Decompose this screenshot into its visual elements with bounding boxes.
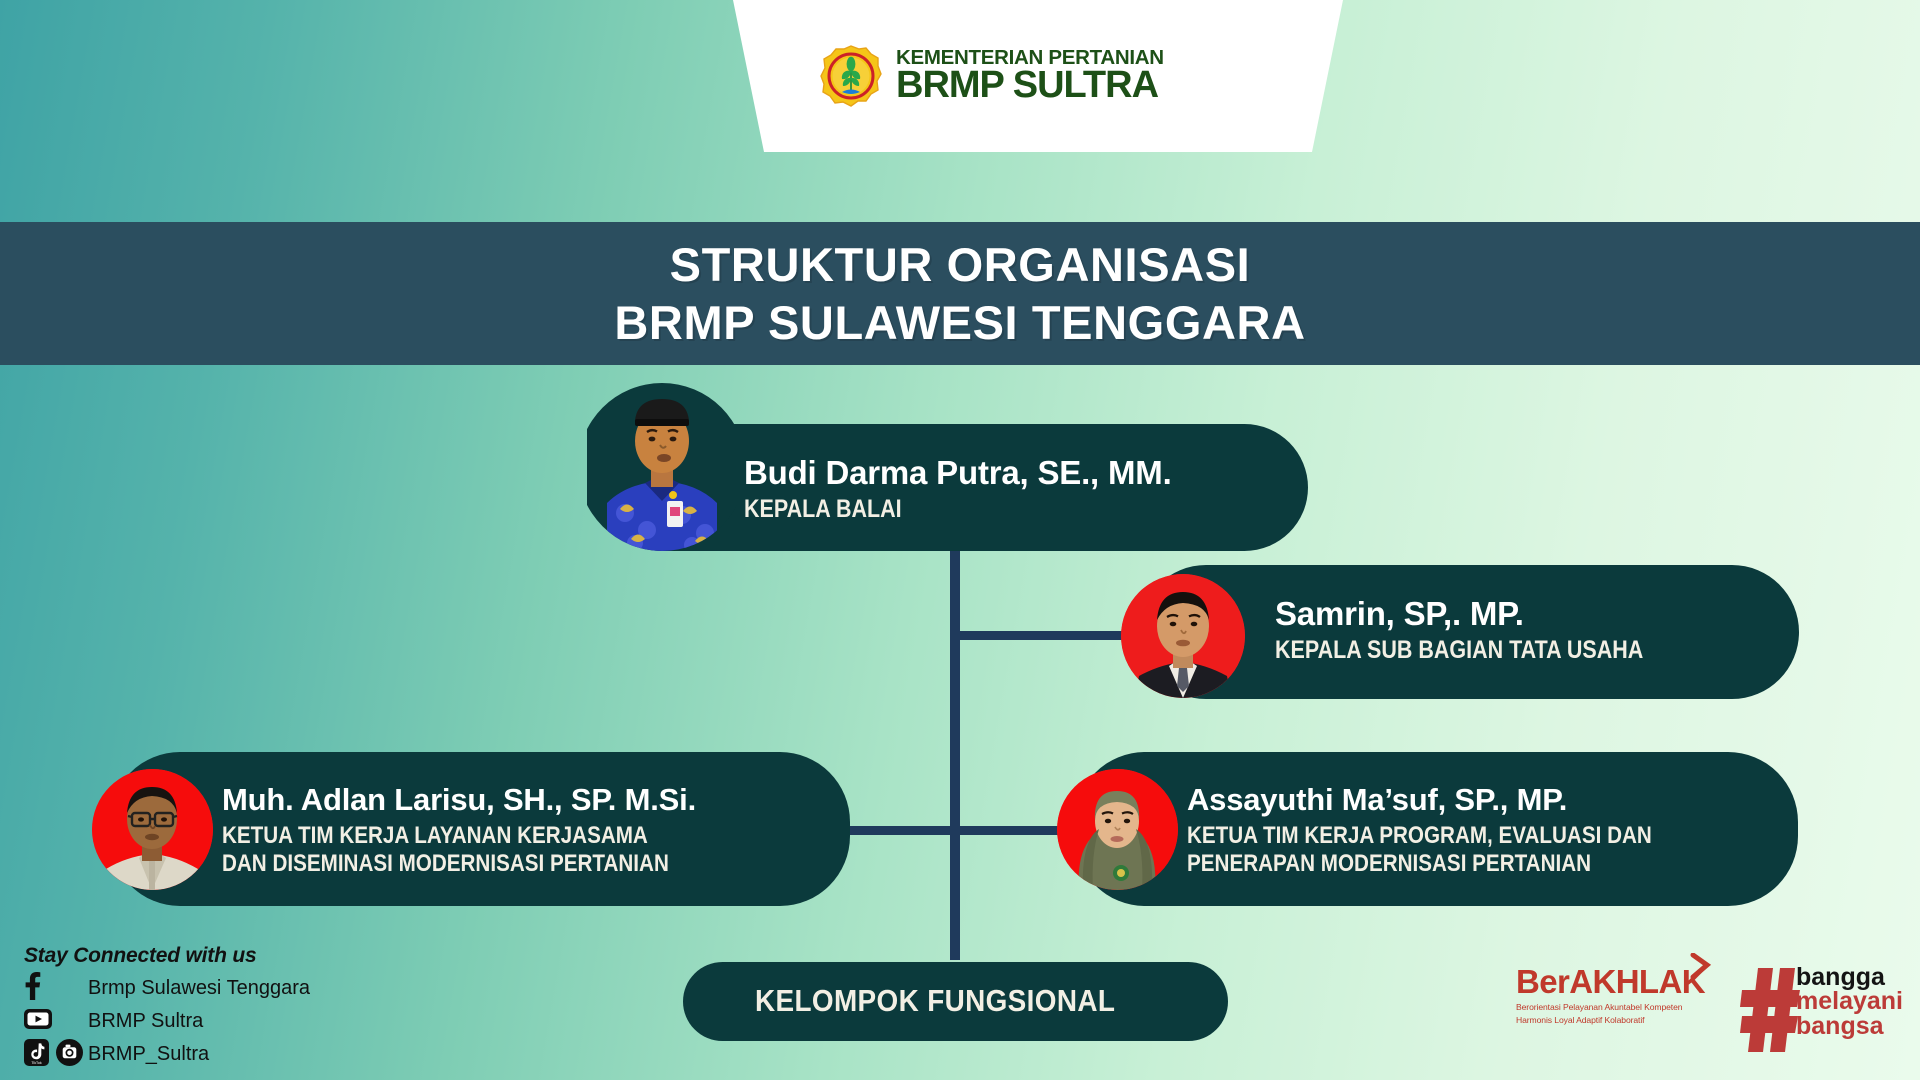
avatar-assayuthi-masuf (1057, 769, 1178, 890)
org-card-ketua-tim-program[interactable]: Assayuthi Ma’suf, SP., MP. KETUA TIM KER… (1075, 752, 1798, 906)
facebook-icon[interactable] (24, 972, 41, 1005)
bangga-line-2: melayani (1796, 989, 1903, 1013)
role-assayuthi-masuf-line-2: PENERAPAN MODERNISASI PERTANIAN (1187, 850, 1652, 878)
berakhlak-logo: BerAKHLAK Berorientasi Pelayanan Akuntab… (1516, 965, 1716, 1026)
tiktok-instagram-handle[interactable]: BRMP_Sultra (88, 1043, 209, 1066)
tiktok-icon[interactable]: TikTok (24, 1039, 49, 1071)
page-title-line-1: STRUKTUR ORGANISASI (670, 236, 1251, 293)
page-title-band: STRUKTUR ORGANISASI BRMP SULAWESI TENGGA… (0, 222, 1920, 365)
role-muh-adlan-larisu-line-1: KETUA TIM KERJA LAYANAN KERJASAMA (222, 822, 669, 850)
bangga-wordmark: bangga melayani bangsa (1796, 965, 1903, 1038)
avatar-budi-darma-putra (587, 383, 737, 551)
youtube-handle[interactable]: BRMP Sultra (88, 1010, 203, 1033)
org-card-kepala-balai[interactable]: Budi Darma Putra, SE., MM. KEPALA BALAI (598, 424, 1308, 551)
role-assayuthi-masuf-line-1: KETUA TIM KERJA PROGRAM, EVALUASI DAN (1187, 822, 1652, 850)
role-kepala-balai: KEPALA BALAI (744, 495, 1112, 525)
social-section: Stay Connected with us Brmp Sulawesi Ten… (24, 944, 444, 1071)
hashtag-icon (1740, 966, 1802, 1054)
name-assayuthi-masuf: Assayuthi Ma’suf, SP., MP. (1187, 782, 1727, 818)
name-muh-adlan-larisu: Muh. Adlan Larisu, SH., SP. M.Si. (222, 782, 742, 818)
agriculture-ministry-seal-icon (820, 45, 882, 107)
berakhlak-tagline-line-1: Berorientasi Pelayanan Akuntabel Kompete… (1516, 1002, 1716, 1014)
avatar-muh-adlan-larisu (92, 769, 213, 890)
label-kelompok-fungsional: KELOMPOK FUNGSIONAL (755, 983, 1115, 1020)
berakhlak-suffix: AKHLAK (1569, 963, 1705, 1000)
role-samrin: KEPALA SUB BAGIAN TATA USAHA (1275, 636, 1643, 666)
social-row-facebook[interactable]: Brmp Sulawesi Tenggara (24, 972, 444, 1005)
unit-name: BRMP SULTRA (896, 66, 1164, 104)
berakhlak-prefix: Ber (1516, 963, 1569, 1000)
berakhlak-tagline-line-2: Harmonis Loyal Adaptif Kolaboratif (1516, 1015, 1716, 1027)
social-row-tiktok-instagram[interactable]: TikTok BRMP_Sultra (24, 1038, 444, 1071)
facebook-handle[interactable]: Brmp Sulawesi Tenggara (88, 977, 310, 1000)
berakhlak-swoosh-icon (1689, 953, 1711, 981)
bangga-melayani-bangsa-logo: bangga melayani bangsa (1740, 962, 1915, 1054)
social-row-youtube[interactable]: BRMP Sultra (24, 1005, 444, 1038)
ministry-logo: KEMENTERIAN PERTANIAN BRMP SULTRA (820, 44, 1164, 108)
role-muh-adlan-larisu-line-2: DAN DISEMINASI MODERNISASI PERTANIAN (222, 850, 669, 878)
name-samrin: Samrin, SP,. MP. (1275, 595, 1703, 633)
name-kepala-balai: Budi Darma Putra, SE., MM. (744, 454, 1172, 492)
org-card-ketua-tim-kerjasama[interactable]: Muh. Adlan Larisu, SH., SP. M.Si. KETUA … (110, 752, 850, 906)
instagram-icon[interactable] (56, 1039, 83, 1071)
bangga-line-1: bangga (1796, 965, 1903, 989)
youtube-icon[interactable] (24, 1007, 52, 1036)
berakhlak-wordmark: BerAKHLAK (1516, 965, 1716, 998)
stay-connected-label: Stay Connected with us (24, 944, 444, 968)
page-title-line-2: BRMP SULAWESI TENGGARA (614, 294, 1305, 351)
svg-text:TikTok: TikTok (31, 1061, 41, 1065)
org-card-kelompok-fungsional[interactable]: KELOMPOK FUNGSIONAL (683, 962, 1228, 1041)
org-card-kasubag-tata-usaha[interactable]: Samrin, SP,. MP. KEPALA SUB BAGIAN TATA … (1139, 565, 1799, 699)
avatar-samrin (1121, 574, 1245, 698)
bangga-line-3: bangsa (1796, 1014, 1903, 1038)
